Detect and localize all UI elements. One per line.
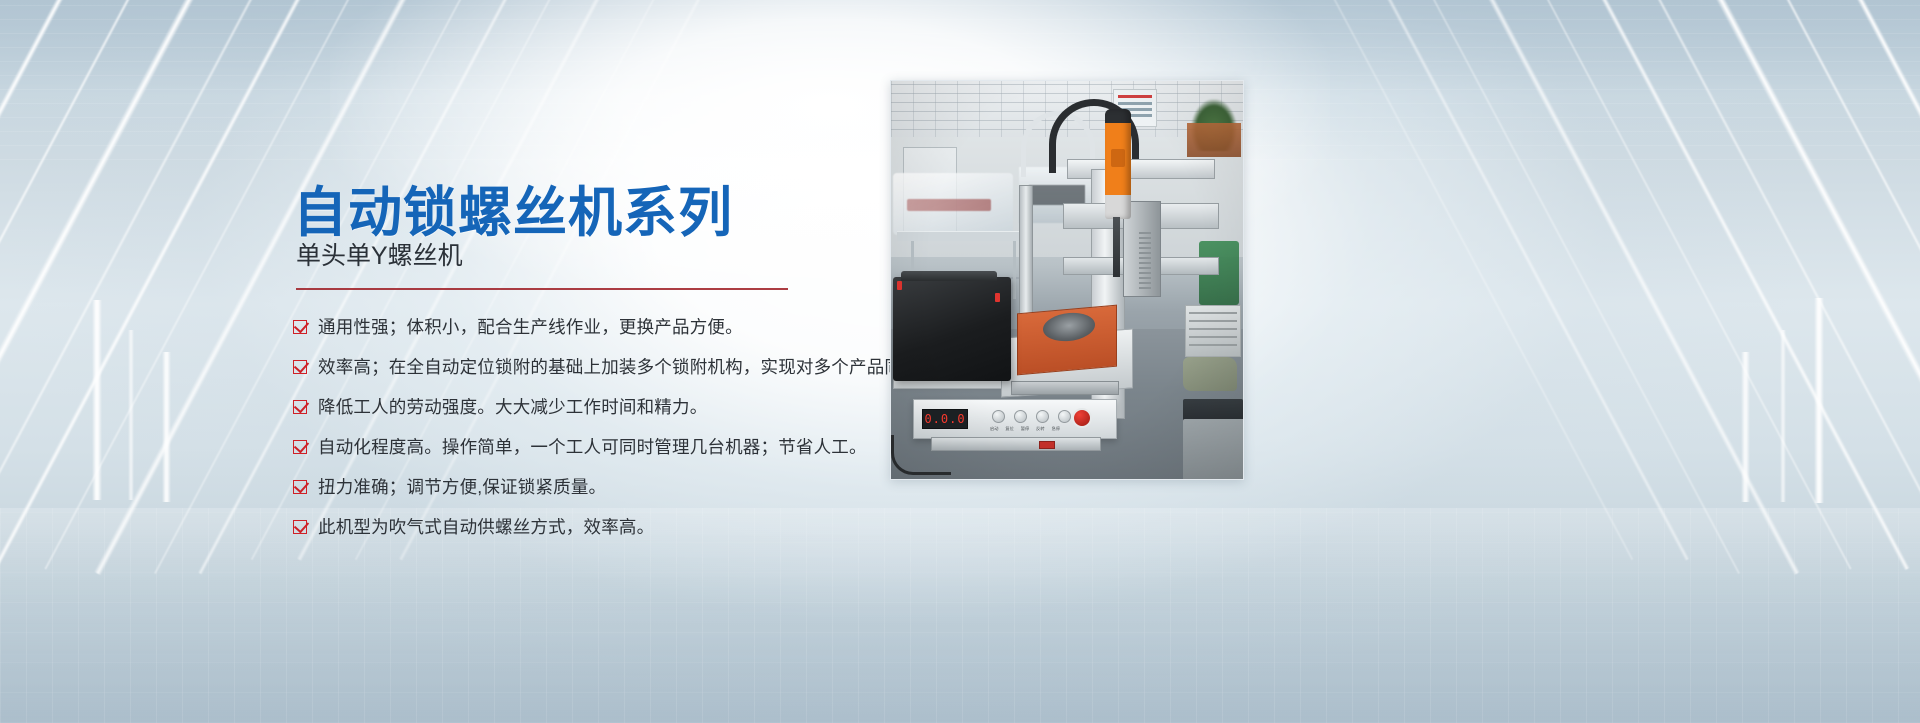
list-item: 此机型为吹气式自动供螺丝方式，效率高。	[293, 512, 913, 543]
emergency-stop-button[interactable]	[1072, 408, 1092, 428]
feature-list: 通用性强；体积小，配合生产线作业，更换产品方便。 效率高；在全自动定位锁附的基础…	[293, 312, 913, 552]
list-item: 效率高；在全自动定位锁附的基础上加装多个锁附机构，实现对多个产品同时锁附。	[293, 352, 913, 383]
indicator-led	[995, 293, 1000, 302]
screw-feeder-box	[893, 277, 1011, 381]
list-item: 通用性强；体积小，配合生产线作业，更换产品方便。	[293, 312, 913, 343]
feature-text: 自动化程度高。操作简单，一个工人可同时管理几台机器；节省人工。	[318, 432, 867, 463]
list-item: 扭力准确；调节方便,保证锁紧质量。	[293, 472, 913, 503]
feature-text: 降低工人的劳动强度。大大减少工作时间和精力。	[318, 392, 707, 423]
feature-text: 此机型为吹气式自动供螺丝方式，效率高。	[318, 512, 654, 543]
control-label: 反转	[1036, 426, 1044, 432]
workbench	[897, 231, 1033, 241]
indicator-led	[897, 281, 902, 290]
list-item: 降低工人的劳动强度。大大减少工作时间和精力。	[293, 392, 913, 423]
control-label: 启动	[990, 426, 998, 432]
control-label: 暂停	[1021, 426, 1029, 432]
product-photo-screw-machine: 0.0.0 启动 复位 暂停 反转 急停	[890, 80, 1244, 480]
background-machine-left	[893, 173, 1013, 235]
feature-text: 效率高；在全自动定位锁附的基础上加装多个锁附机构，实现对多个产品同时锁附。	[318, 352, 973, 383]
control-label: 复位	[1005, 426, 1013, 432]
reset-button[interactable]	[1014, 410, 1027, 423]
cloth-bundle	[1183, 357, 1237, 391]
control-panel[interactable]: 0.0.0 启动 复位 暂停 反转 急停	[913, 399, 1117, 439]
z-axis-spring	[1139, 231, 1151, 289]
control-label: 急停	[1052, 426, 1060, 432]
control-labels: 启动 复位 暂停 反转 急停	[990, 426, 1110, 432]
wooden-board	[1187, 123, 1241, 157]
checkbox-check-icon	[293, 320, 307, 334]
checkbox-check-icon	[293, 520, 307, 534]
power-cable	[891, 435, 951, 475]
checkbox-check-icon	[293, 480, 307, 494]
page-subtitle: 单头单Y螺丝机	[296, 236, 463, 272]
counter-display: 0.0.0	[922, 409, 968, 429]
background-floor-plane	[0, 508, 1920, 723]
banner-text-column: 自动锁螺丝机系列 单头单Y螺丝机 通用性强；体积小，配合生产线作业，更换产品方便…	[293, 0, 913, 723]
monitor	[1183, 419, 1244, 480]
stacked-boxes	[1185, 305, 1241, 357]
base-bar	[1011, 381, 1119, 395]
reverse-button[interactable]	[1058, 410, 1071, 423]
title-divider	[296, 288, 788, 290]
start-button[interactable]	[992, 410, 1005, 423]
power-switch[interactable]	[1039, 441, 1055, 449]
gantry-top-beam	[1067, 159, 1215, 179]
checkbox-check-icon	[293, 400, 307, 414]
control-button-row[interactable]	[992, 410, 1071, 423]
pause-button[interactable]	[1036, 410, 1049, 423]
checkbox-check-icon	[293, 440, 307, 454]
product-banner: 自动锁螺丝机系列 单头单Y螺丝机 通用性强；体积小，配合生产线作业，更换产品方便…	[0, 0, 1920, 723]
feature-text: 扭力准确；调节方便,保证锁紧质量。	[318, 472, 606, 503]
feature-text: 通用性强；体积小，配合生产线作业，更换产品方便。	[318, 312, 743, 343]
checkbox-check-icon	[293, 360, 307, 374]
list-item: 自动化程度高。操作简单，一个工人可同时管理几台机器；节省人工。	[293, 432, 913, 463]
electric-screwdriver	[1105, 109, 1131, 219]
screwdriver-bit	[1113, 217, 1120, 277]
base-footplate	[931, 437, 1101, 451]
